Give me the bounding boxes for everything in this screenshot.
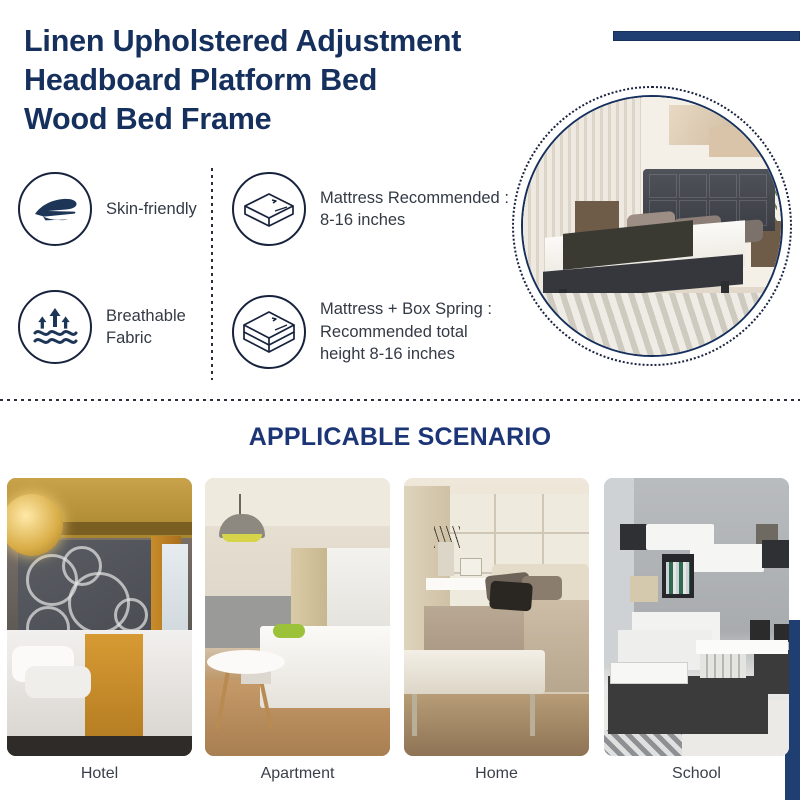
scenario-caption-hotel: Hotel <box>7 765 192 783</box>
feature-skin-friendly: Skin-friendly <box>18 166 203 252</box>
palm-hand-icon <box>18 172 92 246</box>
single-mattress-icon <box>232 172 306 246</box>
feature-column-divider <box>211 168 213 380</box>
section-divider <box>0 399 800 401</box>
product-title-line-3: Wood Bed Frame <box>24 100 584 139</box>
product-infographic: Linen Upholstered Adjustment Headboard P… <box>0 0 800 800</box>
feature-column-right: Mattress Recommended : 8-16 inches <box>232 166 517 412</box>
feature-breathable-fabric: Breathable Fabric <box>18 284 203 370</box>
product-title-line-2: Headboard Platform Bed <box>24 61 584 100</box>
scenario-card-home[interactable]: Home <box>404 478 589 783</box>
hero-bedroom-image <box>523 97 781 355</box>
feature-breathable-fabric-label: Breathable Fabric <box>106 305 203 349</box>
scenario-caption-apartment: Apartment <box>205 765 390 783</box>
applicable-scenario-heading: APPLICABLE SCENARIO <box>0 423 800 452</box>
scenario-image-apartment <box>205 478 390 756</box>
feature-skin-friendly-label: Skin-friendly <box>106 198 197 220</box>
scenario-card-apartment[interactable]: Apartment <box>205 478 390 783</box>
hero-photo-frame <box>521 95 783 357</box>
feature-mattress-recommendation-label: Mattress Recommended : 8-16 inches <box>320 187 517 232</box>
scenario-card-hotel[interactable]: Hotel <box>7 478 192 783</box>
breathable-arrows-waves-icon <box>18 290 92 364</box>
product-title: Linen Upholstered Adjustment Headboard P… <box>24 22 584 139</box>
scenario-gallery: Hotel Apartment <box>0 478 800 800</box>
feature-mattress-recommendation: Mattress Recommended : 8-16 inches <box>232 166 517 252</box>
scenario-caption-school: School <box>604 765 789 783</box>
product-title-line-1: Linen Upholstered Adjustment <box>24 22 584 61</box>
scenario-card-school[interactable]: School <box>604 478 789 783</box>
scenario-caption-home: Home <box>404 765 589 783</box>
mattress-box-spring-icon <box>232 295 306 369</box>
feature-column-left: Skin-friendly Breathable Fabric <box>18 166 203 402</box>
scenario-image-school <box>604 478 789 756</box>
hero-product-photo <box>512 86 792 366</box>
top-accent-bar <box>613 31 800 41</box>
feature-box-spring-recommendation: Mattress + Box Spring : Recommended tota… <box>232 289 517 375</box>
scenario-image-hotel <box>7 478 192 756</box>
feature-box-spring-recommendation-label: Mattress + Box Spring : Recommended tota… <box>320 298 517 366</box>
feature-list: Skin-friendly Breathable Fabric <box>0 160 520 382</box>
scenario-image-home <box>404 478 589 756</box>
